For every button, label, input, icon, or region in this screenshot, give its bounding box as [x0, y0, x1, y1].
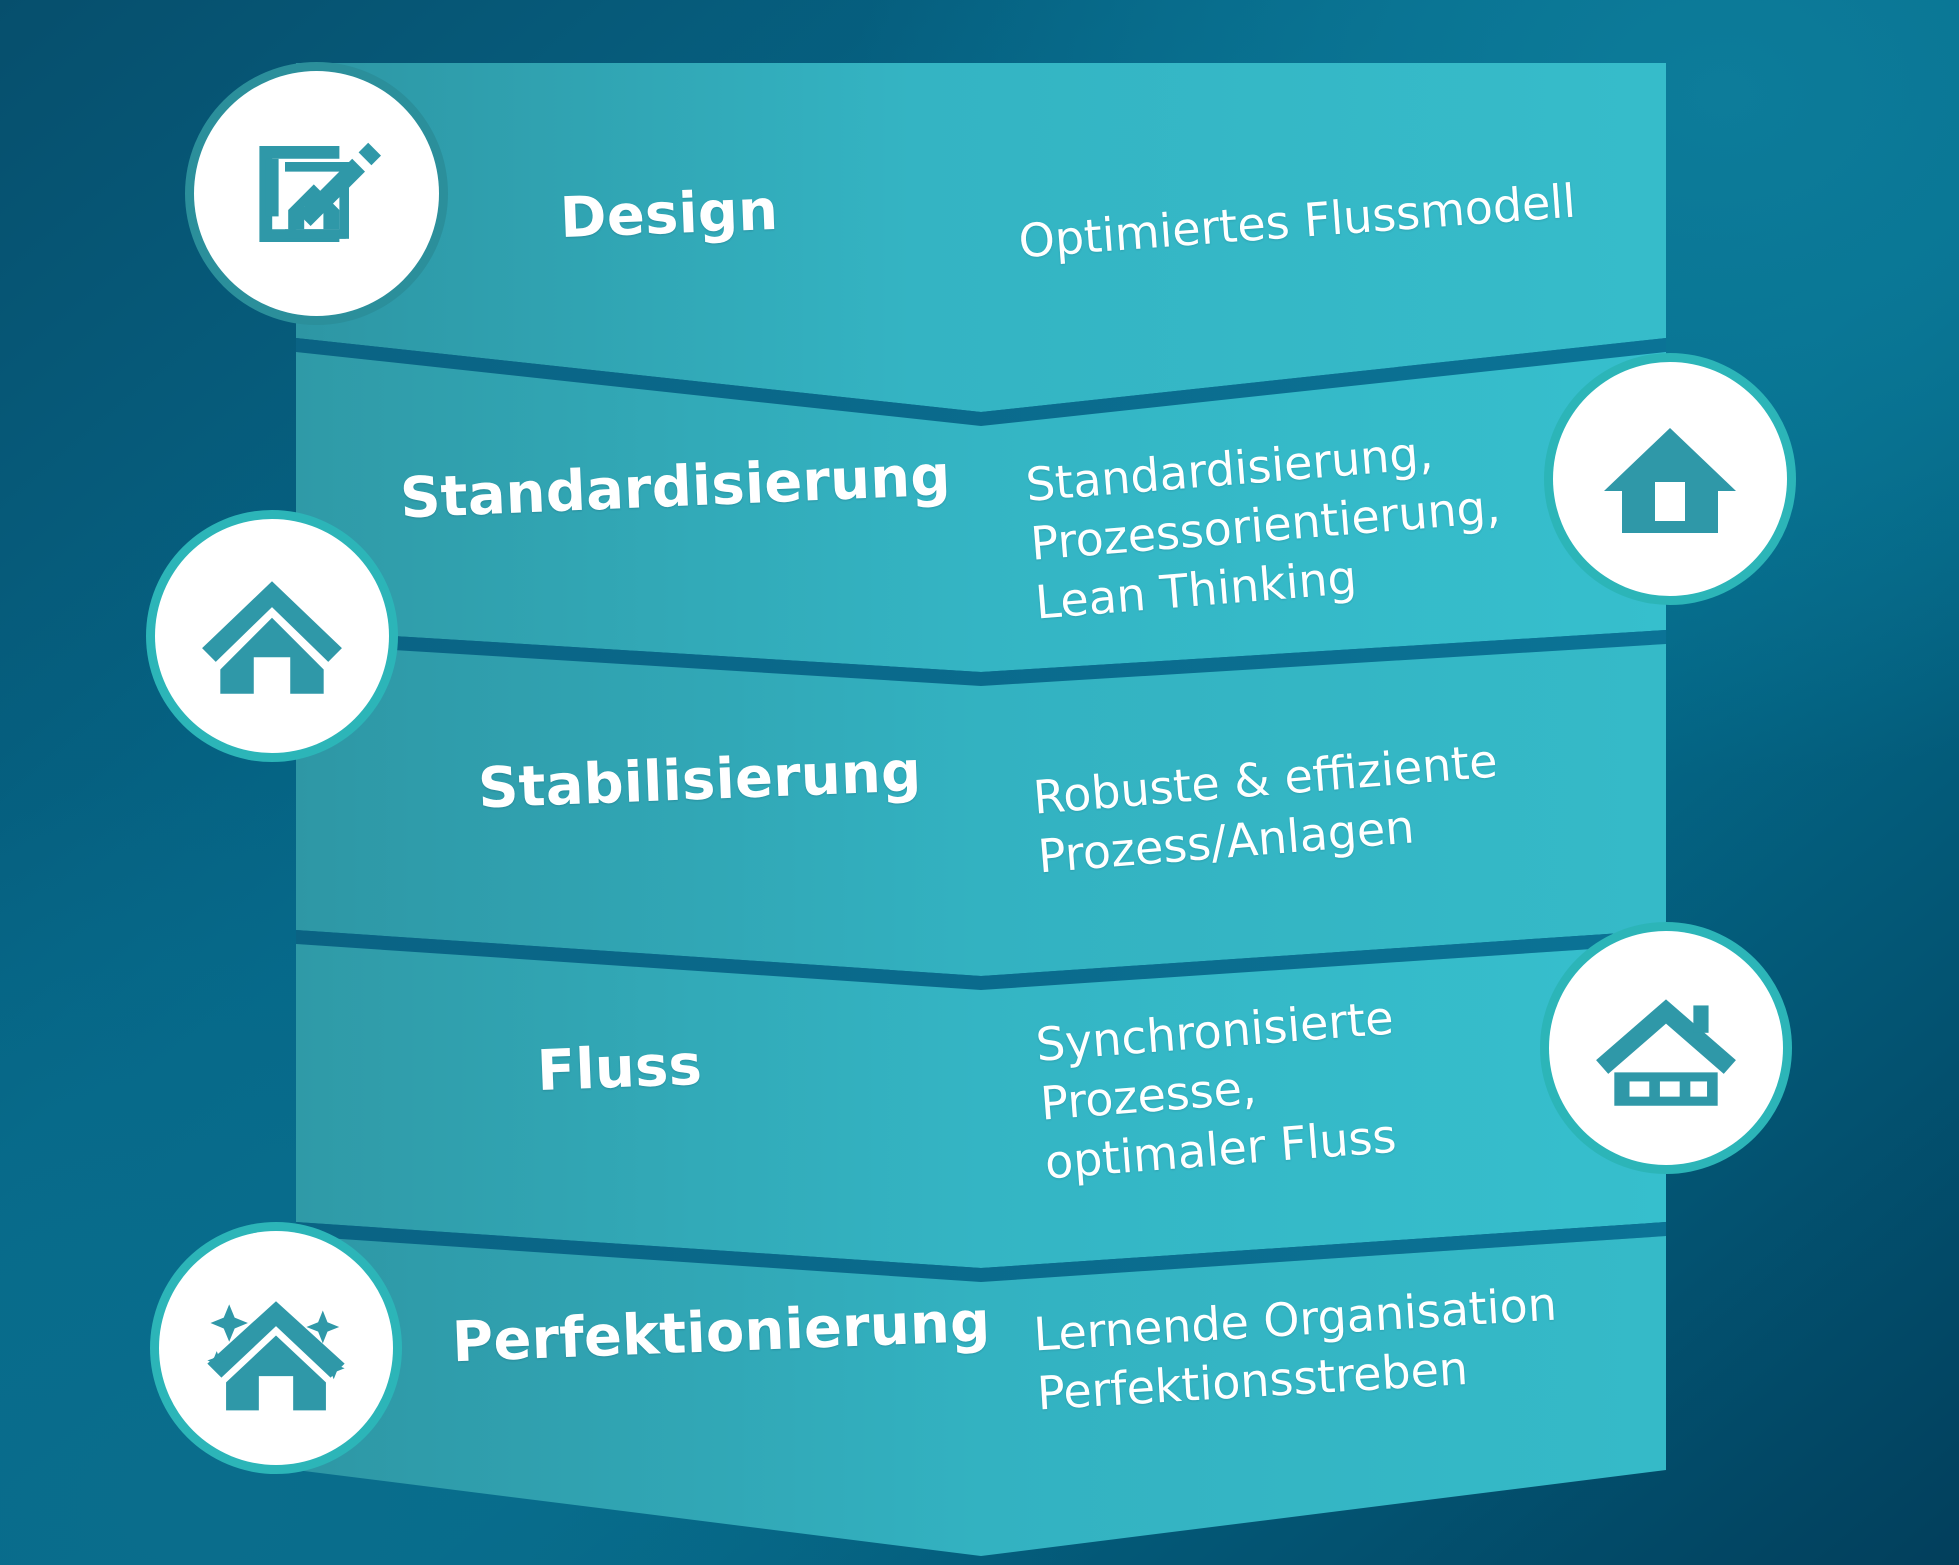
band-4: [296, 944, 1666, 1282]
level-2-description: Standardisierung, Prozessorientierung, L…: [1024, 418, 1507, 632]
band-1: [296, 63, 1666, 426]
icon-disc: [159, 1231, 393, 1465]
house-windows-icon: [1590, 972, 1742, 1124]
level-4-description: Synchronisierte Prozesse, optimaler Flus…: [1034, 989, 1405, 1193]
diagram-canvas: Design Standardisierung Stabilisierung F…: [0, 0, 1959, 1565]
blueprint-pencil-icon: [237, 114, 397, 274]
level-1-icon[interactable]: [185, 62, 448, 325]
level-2-icon[interactable]: [1544, 353, 1796, 605]
icon-disc: [1553, 362, 1787, 596]
level-1-label: Design: [559, 178, 779, 251]
house-outline-icon: [196, 560, 348, 712]
level-4-label: Fluss: [536, 1033, 703, 1104]
icon-disc: [155, 519, 389, 753]
level-5-icon[interactable]: [150, 1222, 402, 1474]
level-3-icon[interactable]: [146, 510, 398, 762]
level-4-icon[interactable]: [1540, 922, 1792, 1174]
house-sparkle-icon: [198, 1270, 354, 1426]
house-solid-icon: [1595, 404, 1745, 554]
icon-disc: [1549, 931, 1783, 1165]
icon-disc: [194, 71, 439, 316]
